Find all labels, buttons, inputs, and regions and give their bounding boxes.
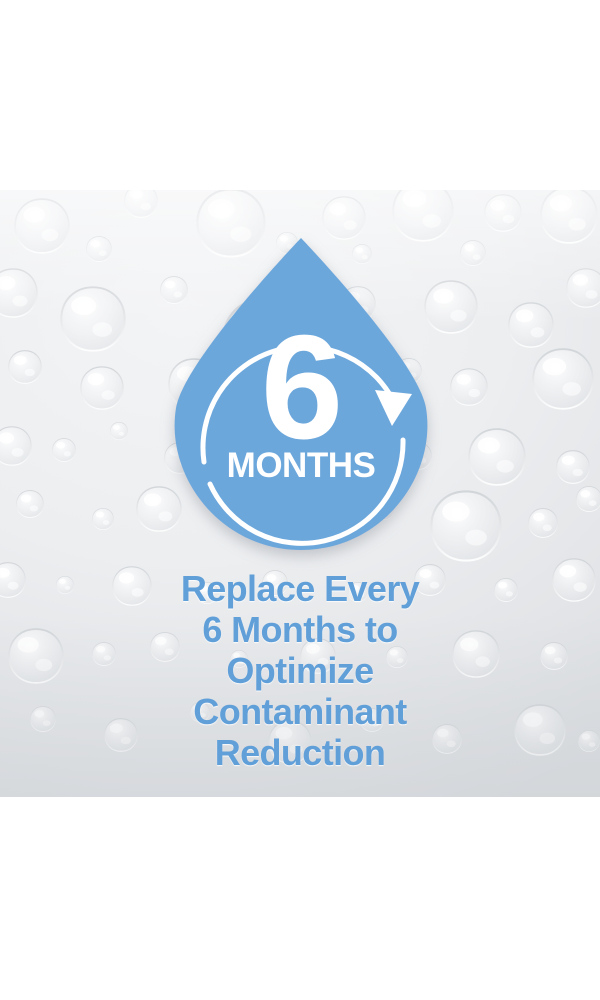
six-months-droplet-badge: 6 MONTHS [160,230,442,560]
droplet-svg: 6 MONTHS [160,230,442,560]
headline-line-3: Optimize [0,650,600,691]
headline-line-1: Replace Every [0,568,600,609]
headline-line-5: Reduction [0,732,600,773]
promo-graphic: 6 MONTHS Replace Every 6 Months to Optim… [0,0,600,1000]
headline-line-2: 6 Months to [0,609,600,650]
badge-unit-label: MONTHS [227,446,376,485]
headline: Replace Every 6 Months to Optimize Conta… [0,568,600,773]
headline-line-4: Contaminant [0,691,600,732]
